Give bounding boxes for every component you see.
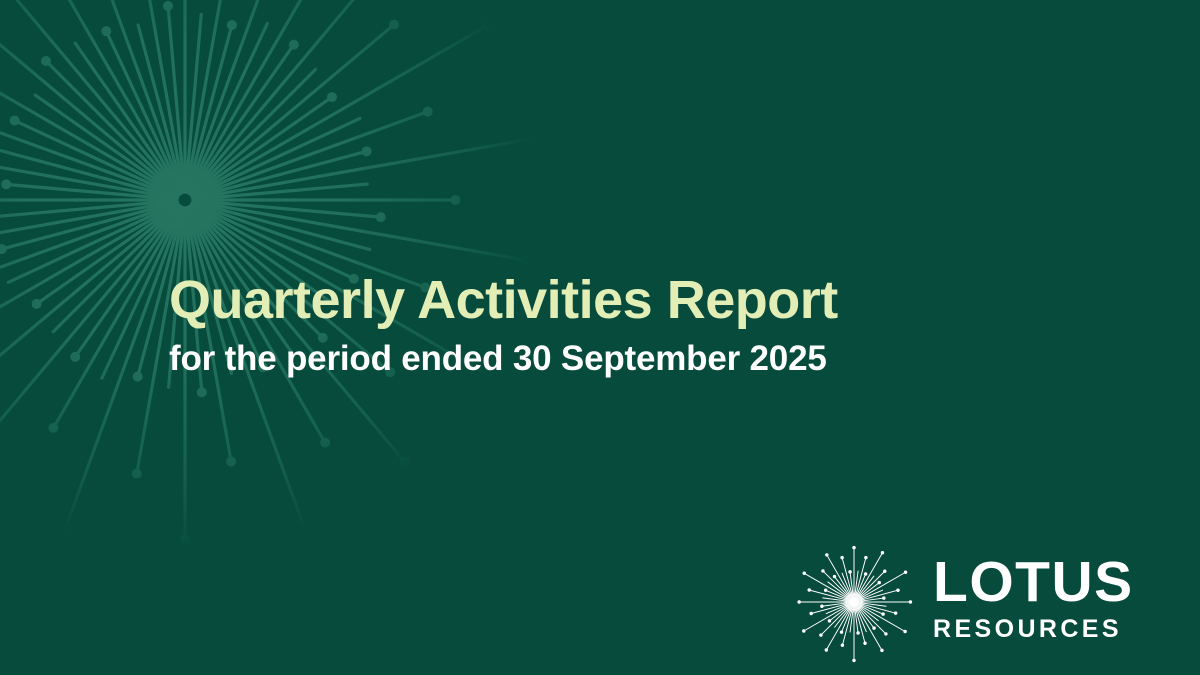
logo-wordmark: LOTUS RESOURCES — [933, 556, 1134, 648]
logo-primary-text: LOTUS — [933, 556, 1134, 608]
logo-secondary-text: RESOURCES — [933, 608, 1134, 644]
page-subtitle: for the period ended 30 September 2025 — [169, 332, 1069, 381]
logo-lockup: LOTUS RESOURCES — [793, 540, 1134, 664]
lotus-starburst-icon — [793, 541, 915, 663]
page-title: Quarterly Activities Report — [169, 268, 1069, 332]
headline-block: Quarterly Activities Report for the peri… — [169, 268, 1069, 381]
report-cover-slide: Quarterly Activities Report for the peri… — [0, 0, 1200, 675]
